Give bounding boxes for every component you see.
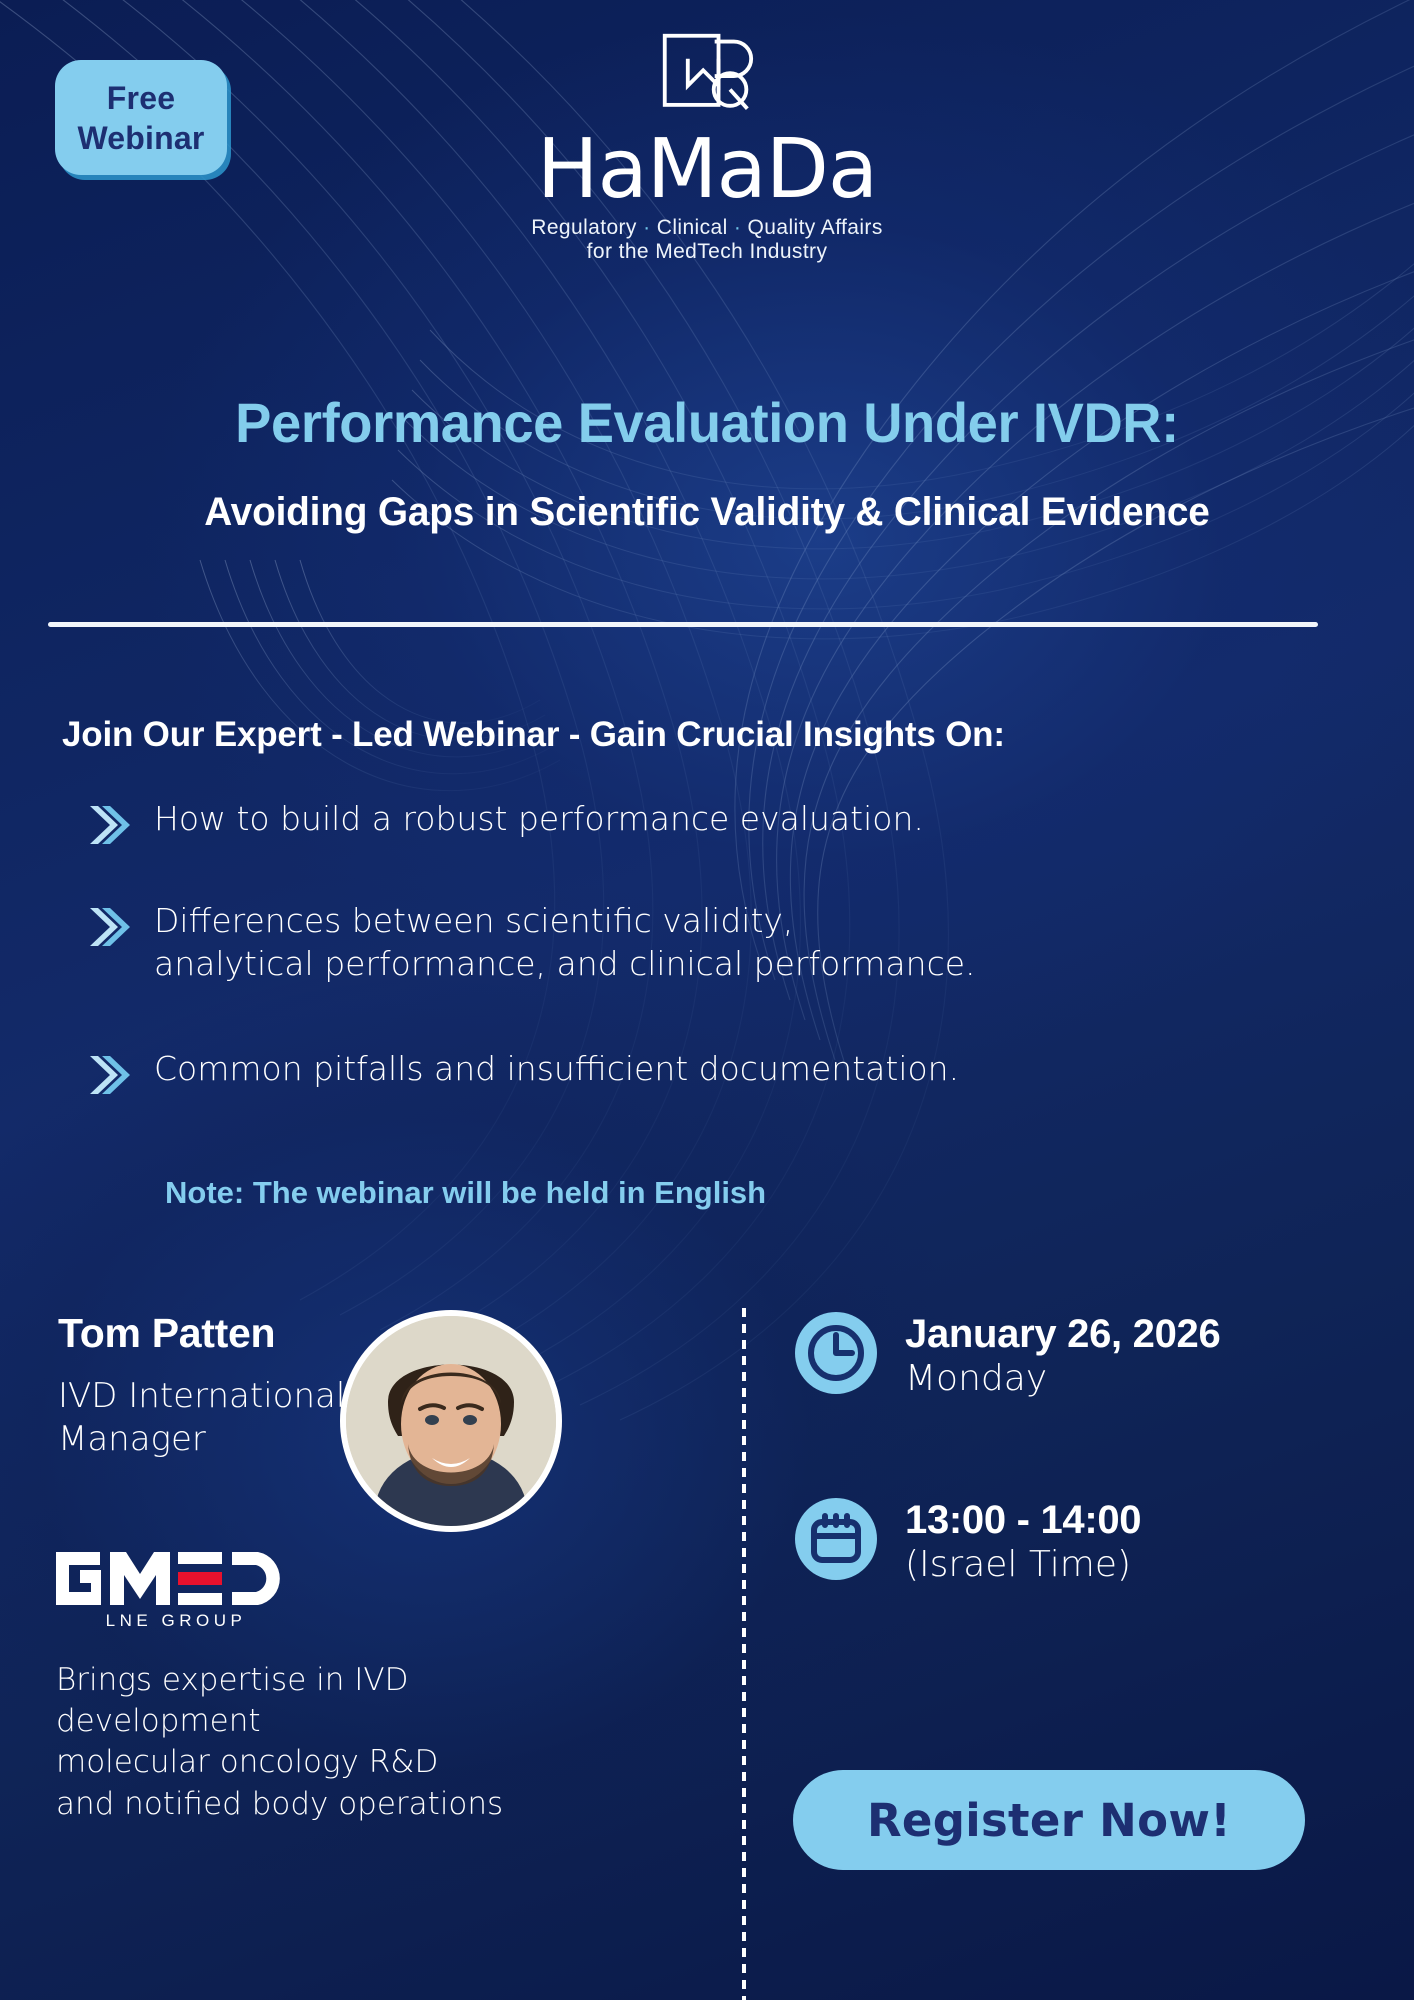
event-timezone: (Israel Time) (905, 1543, 1141, 1586)
double-chevron-icon (88, 1054, 134, 1096)
brand-wordmark: HaMaDa (537, 130, 877, 210)
speaker-portrait (346, 1316, 556, 1526)
brand-tagline-secondary: for the MedTech Industry (587, 240, 828, 264)
insight-bullet-3-text: Common pitfalls and insufficient documen… (154, 1048, 959, 1091)
insight-bullet-1: How to build a robust performance evalua… (88, 798, 924, 846)
insight-bullet-1-text: How to build a robust performance evalua… (154, 798, 924, 841)
brand-tagline-primary: Regulatory · Clinical · Quality Affairs (531, 216, 882, 240)
event-day: Monday (905, 1357, 1220, 1400)
tagline-regulatory: Regulatory (531, 216, 637, 239)
title-divider (48, 622, 1318, 627)
language-note: Note: The webinar will be held in Englis… (165, 1175, 766, 1211)
speaker-name: Tom Patten (58, 1310, 275, 1357)
tagline-separator-1: · (643, 216, 650, 239)
hamada-monogram-icon (659, 30, 755, 126)
event-date: January 26, 2026 (905, 1312, 1220, 1357)
avatar (340, 1310, 562, 1532)
tagline-clinical: Clinical (657, 216, 728, 239)
insight-bullet-2-text: Differences between scientific validity,… (154, 900, 976, 986)
insights-heading: Join Our Expert - Led Webinar - Gain Cru… (62, 715, 1005, 755)
gmed-logo: LNE GROUP (50, 1540, 300, 1632)
register-button[interactable]: Register Now! (793, 1770, 1305, 1870)
page-title: Performance Evaluation Under IVDR: (21, 390, 1393, 455)
tagline-separator-2: · (734, 216, 741, 239)
event-time-row: 13:00 - 14:00 (Israel Time) (795, 1498, 1141, 1586)
brand-logo: HaMaDa Regulatory · Clinical · Quality A… (0, 30, 1414, 264)
tagline-quality: Quality Affairs (748, 216, 883, 239)
insight-bullet-2: Differences between scientific validity,… (88, 900, 976, 986)
speaker-bio: Brings expertise in IVD development mole… (56, 1660, 503, 1825)
clock-icon (795, 1312, 877, 1394)
event-time: 13:00 - 14:00 (905, 1498, 1141, 1543)
webinar-poster: Free Webinar HaMaDa Regulatory · Clinica… (0, 0, 1414, 2000)
calendar-icon (795, 1498, 877, 1580)
double-chevron-icon (88, 906, 134, 948)
double-chevron-icon (88, 804, 134, 846)
speaker-role: IVD International Manager (58, 1375, 345, 1460)
vertical-dotted-divider (742, 1308, 746, 2000)
insight-bullet-3: Common pitfalls and insufficient documen… (88, 1048, 959, 1096)
page-subtitle: Avoiding Gaps in Scientific Validity & C… (21, 490, 1393, 535)
gmed-sub-label: LNE GROUP (106, 1611, 247, 1630)
event-date-row: January 26, 2026 Monday (795, 1312, 1220, 1400)
